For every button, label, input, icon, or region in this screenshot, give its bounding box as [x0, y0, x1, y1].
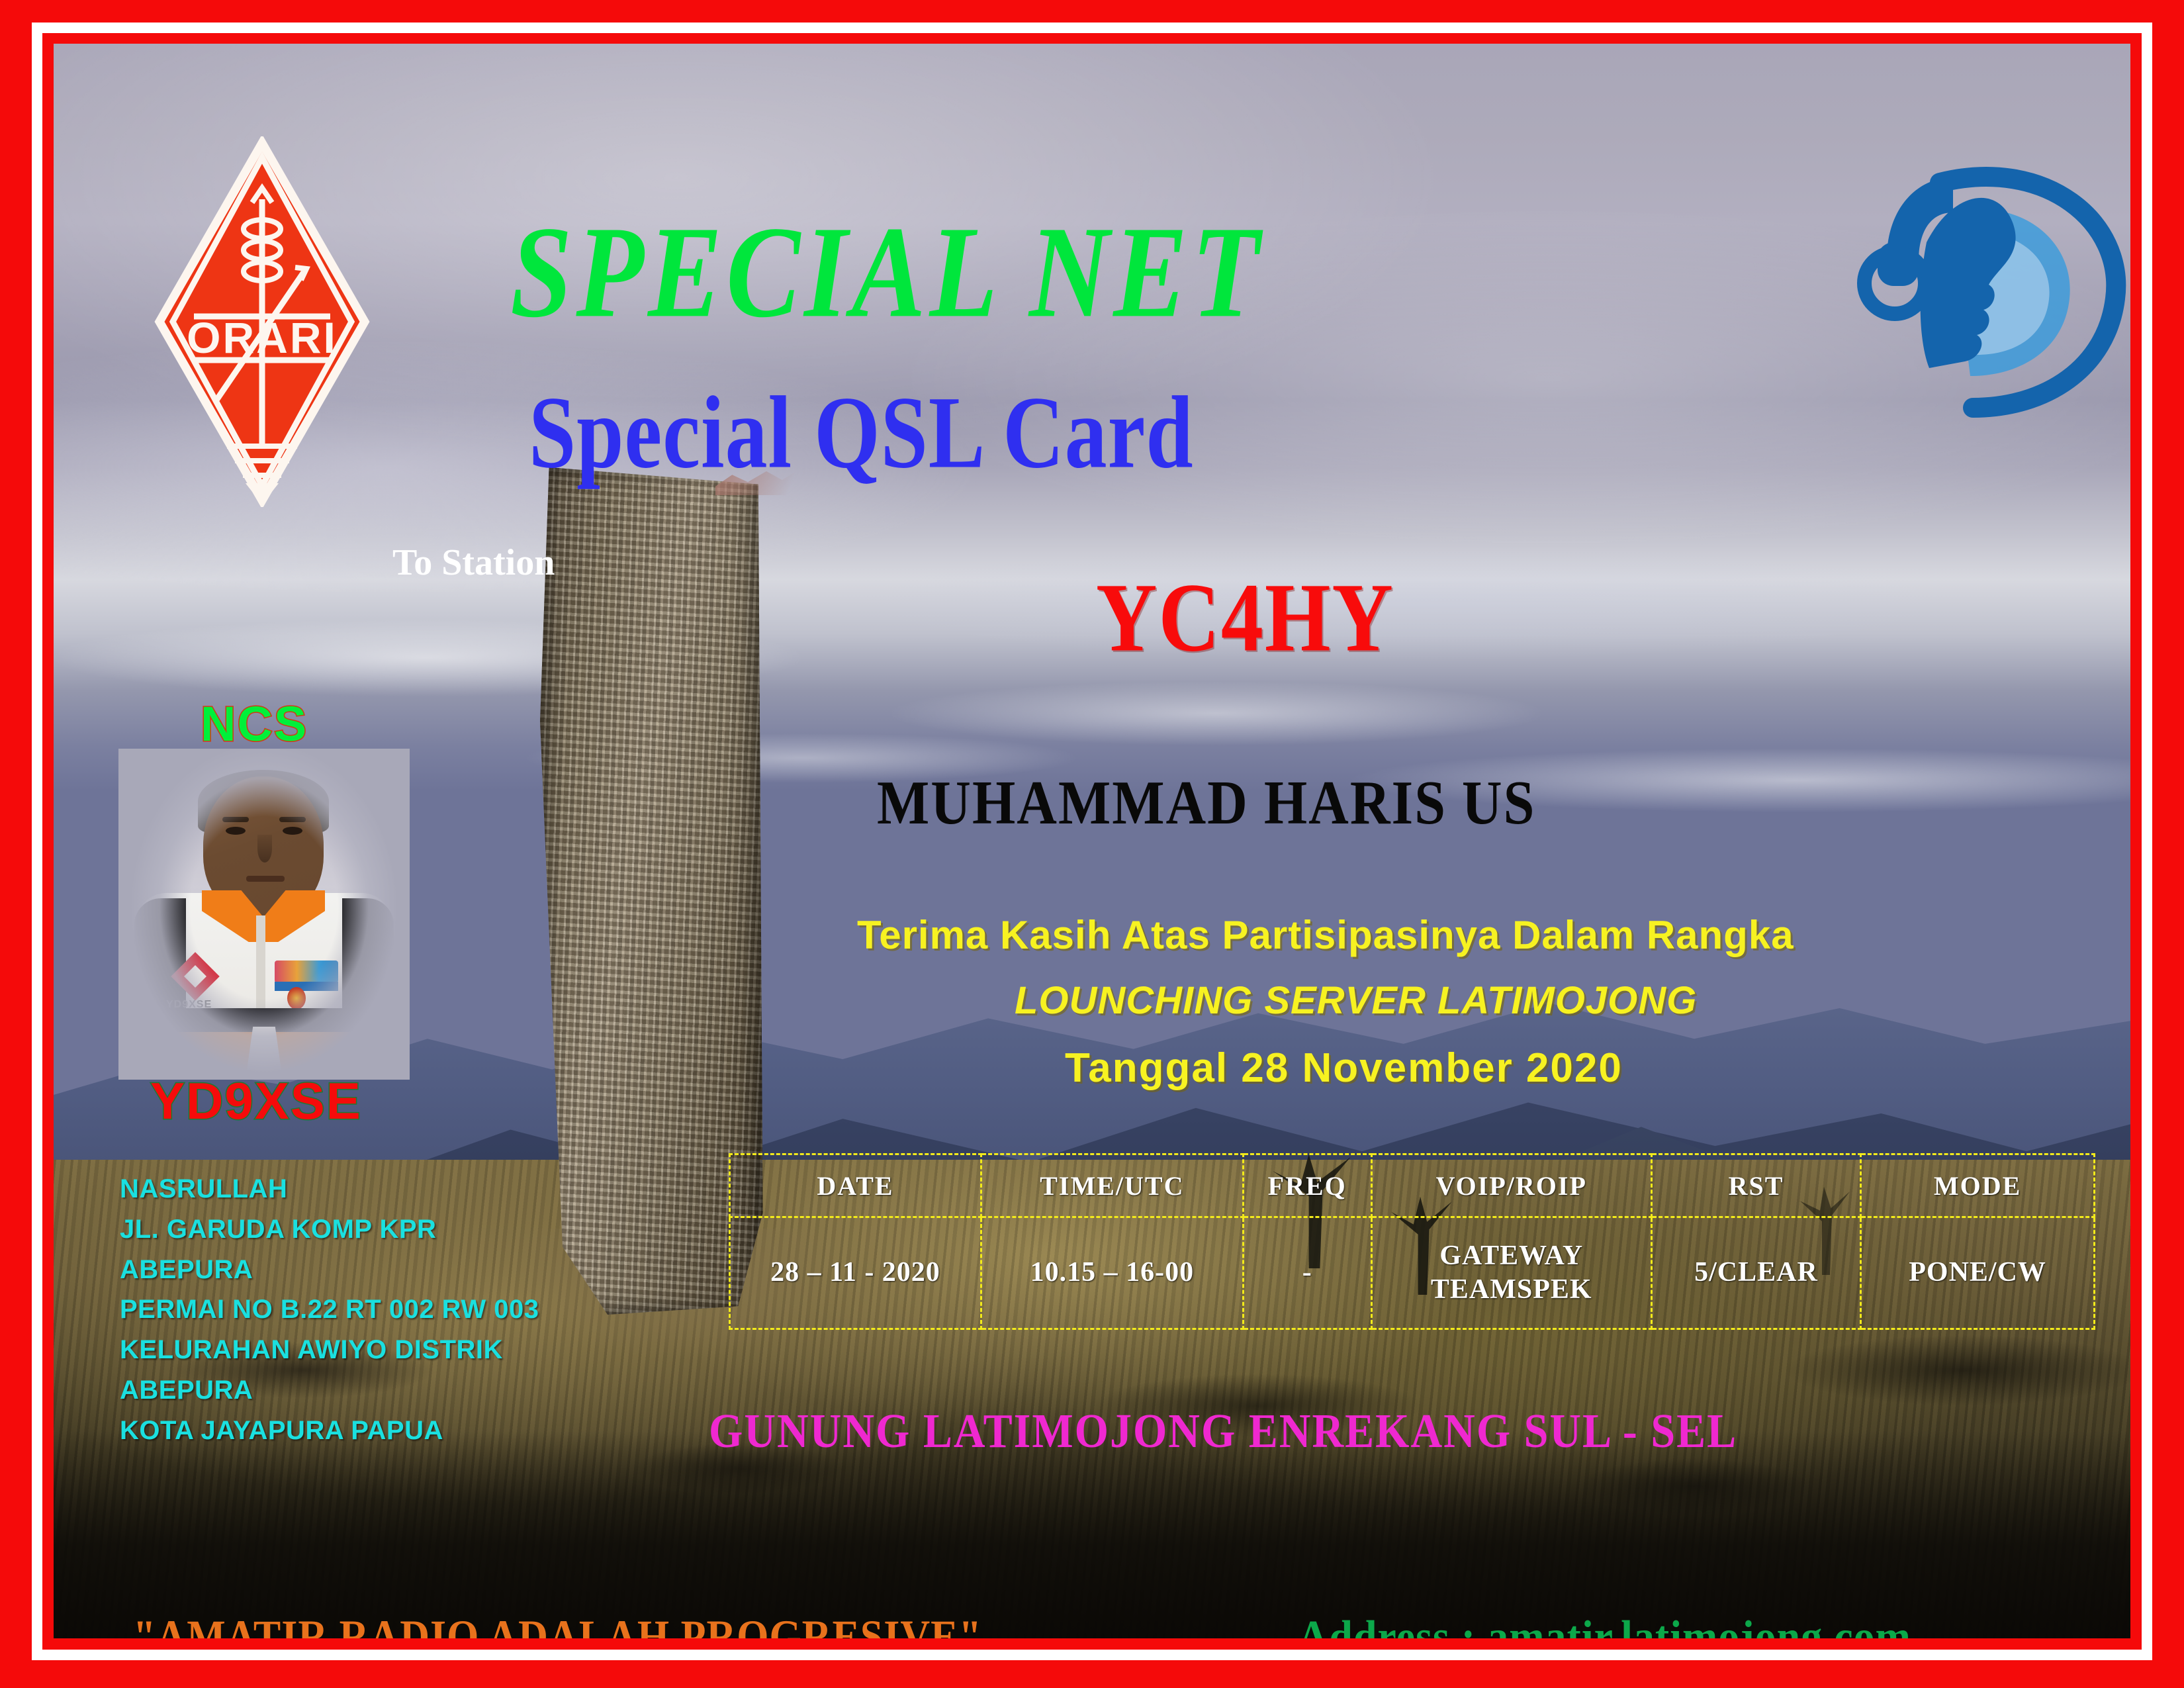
event-thanks-line: Terima Kasih Atas Partisipasinya Dalam R… — [857, 912, 1794, 958]
table-row: 28 – 11 - 2020 10.15 – 16-00 - GATEWAYTE… — [730, 1217, 2095, 1329]
subtitle-special-qsl-card: Special QSL Card — [529, 373, 1194, 492]
event-date-line: Tanggal 28 November 2020 — [1065, 1045, 1623, 1092]
table-header-row: DATE TIME/UTC FREQ VOIP/ROIP RST MODE — [730, 1154, 2095, 1217]
address-line: ABEPURA — [120, 1250, 539, 1290]
title-special-net: SPECIAL NET — [510, 197, 1263, 348]
qso-log-table: DATE TIME/UTC FREQ VOIP/ROIP RST MODE 28… — [729, 1153, 2095, 1330]
orari-logo-icon: ORARI — [153, 136, 371, 507]
col-header-freq: FREQ — [1243, 1154, 1371, 1217]
address-line: PERMAI NO B.22 RT 002 RW 003 — [120, 1289, 539, 1330]
cell-mode: PONE/CW — [1861, 1217, 2095, 1329]
col-header-rst: RST — [1651, 1154, 1860, 1217]
mailing-address-block: NASRULLAH JL. GARUDA KOMP KPR ABEPURA PE… — [120, 1169, 539, 1451]
web-address-text: Address : amatir.latimojong.com — [1298, 1610, 1911, 1638]
to-station-label: To Station — [392, 541, 555, 584]
ncs-callsign: YD9XSE — [150, 1071, 362, 1131]
location-line: GUNUNG LATIMOJONG ENREKANG SUL - SEL — [709, 1404, 1737, 1460]
col-header-voip: VOIP/ROIP — [1371, 1154, 1651, 1217]
broadcast-headset-logo-icon — [1847, 143, 2130, 428]
address-line: JL. GARUDA KOMP KPR — [120, 1209, 539, 1250]
card-photo-area: ORARI — [54, 44, 2130, 1638]
cell-date: 28 – 11 - 2020 — [730, 1217, 981, 1329]
ncs-operator-photo: YD9XSE — [118, 749, 410, 1080]
address-line: NASRULLAH — [120, 1169, 539, 1209]
ncs-label: NCS — [201, 696, 308, 752]
col-header-time: TIME/UTC — [981, 1154, 1243, 1217]
address-line: ABEPURA — [120, 1370, 539, 1411]
cell-rst: 5/CLEAR — [1651, 1217, 1860, 1329]
qsl-card: ORARI — [0, 0, 2184, 1688]
station-callsign: YC4HY — [1096, 561, 1394, 675]
col-header-date: DATE — [730, 1154, 981, 1217]
frame-white-gap: ORARI — [32, 23, 2152, 1660]
col-header-mode: MODE — [1861, 1154, 2095, 1217]
motto-text: "AMATIR RADIO ADALAH PROGRESIVE" — [133, 1611, 982, 1638]
address-line: KOTA JAYAPURA PAPUA — [120, 1411, 539, 1451]
cell-time: 10.15 – 16-00 — [981, 1217, 1243, 1329]
cell-voip: GATEWAYTEAMSPEK — [1371, 1217, 1651, 1329]
operator-name: MUHAMMAD HARIS US — [877, 767, 1535, 839]
frame-inner-red: ORARI — [42, 33, 2142, 1650]
address-line: KELURAHAN AWIYO DISTRIK — [120, 1330, 539, 1370]
cell-freq: - — [1243, 1217, 1371, 1329]
orari-logo-text: ORARI — [187, 313, 338, 362]
background-bottom-shadow — [54, 1431, 2130, 1638]
event-title-line: LOUNCHING SERVER LATIMOJONG — [1015, 978, 1697, 1023]
